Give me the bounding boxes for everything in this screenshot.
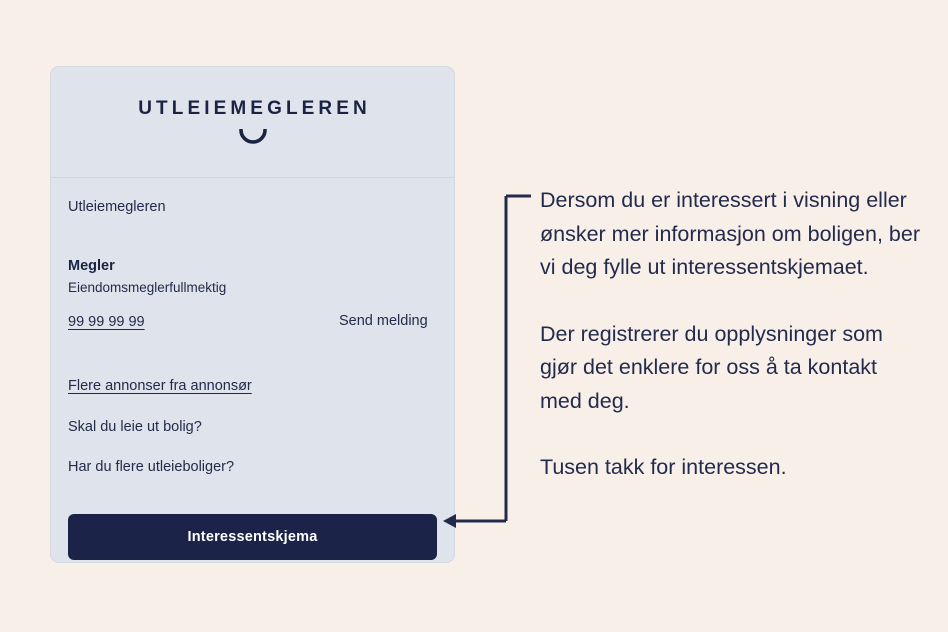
interessentskjema-button[interactable]: Interessentskjema [68,514,437,560]
contact-row: 99 99 99 99 Send melding [68,313,454,331]
annotation-text: Dersom du er interessert i visning eller… [540,184,920,485]
phone-link[interactable]: 99 99 99 99 [68,314,145,330]
annotation-paragraph-2: Der registrerer du opplysninger som gjør… [540,318,920,419]
more-properties-link[interactable]: Har du flere utleieboliger? [68,459,454,475]
advertiser-ads-link[interactable]: Flere annonser fra annonsør [68,378,252,394]
logo-wordmark: UTLEIEMEGLEREN [134,99,371,118]
links-block: Flere annonser fra annonsør Skal du leie… [68,377,454,475]
card-body: Utleiemegleren Megler Eiendomsmeglerfull… [51,178,454,560]
send-message-link[interactable]: Send melding [339,313,428,329]
card-header: UTLEIEMEGLEREN [51,67,454,178]
cta-wrapper: Interessentskjema [51,514,454,560]
company-name: Utleiemegleren [68,198,454,217]
broker-role: Megler [68,257,454,277]
annotation-paragraph-3: Tusen takk for interessen. [540,451,920,485]
broker-title: Eiendomsmeglerfullmektig [68,279,454,297]
broker-info: Megler Eiendomsmeglerfullmektig [68,257,454,298]
broker-card: UTLEIEMEGLEREN Utleiemegleren Megler Eie… [50,66,455,563]
annotation-paragraph-1: Dersom du er interessert i visning eller… [540,184,920,285]
rent-out-link[interactable]: Skal du leie ut bolig? [68,419,454,435]
smile-arc-icon [238,129,268,145]
